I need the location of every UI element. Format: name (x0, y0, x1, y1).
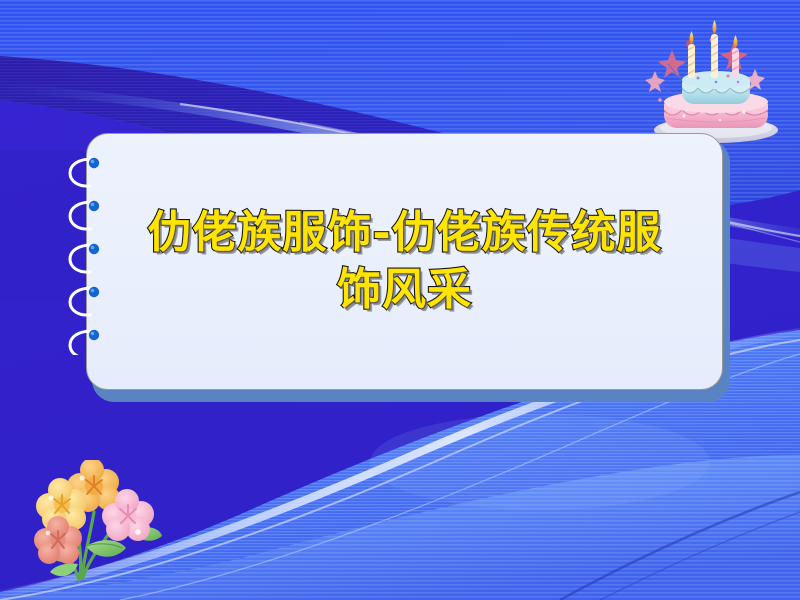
title-block: 仂佬族服饰-仂佬族传统服 饰风采 (87, 205, 722, 318)
slide-title: 仂佬族服饰-仂佬族传统服 饰风采 (123, 205, 686, 318)
flower-bouquet-icon (22, 460, 180, 588)
presentation-slide: 仂佬族服饰-仂佬族传统服 饰风采 (0, 0, 800, 600)
birthday-cake-icon (624, 6, 800, 146)
note-card: 仂佬族服饰-仂佬族传统服 饰风采 (86, 133, 723, 390)
